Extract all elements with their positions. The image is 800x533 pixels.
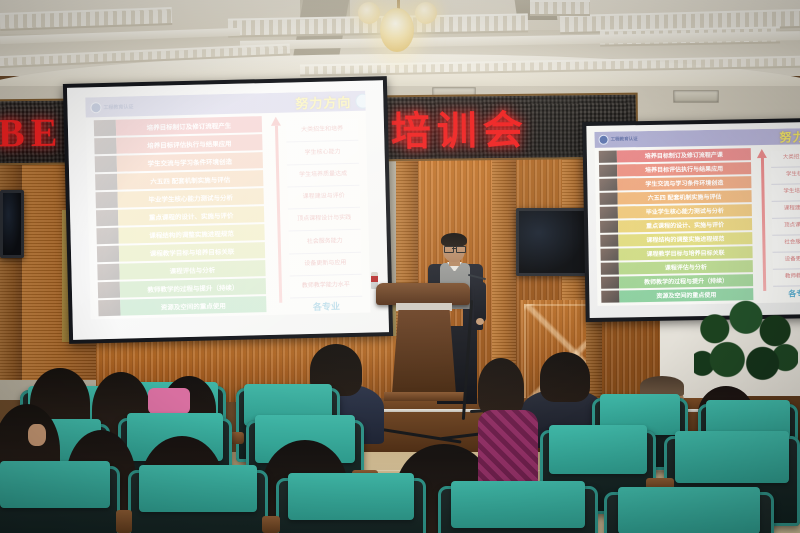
slide-side-label: 课程建设 [772, 201, 800, 219]
slide-row-thumbnail [94, 137, 116, 154]
audience-face-front-1 [28, 424, 46, 446]
seat[interactable] [276, 478, 426, 533]
slide-row-thumbnail [601, 262, 619, 274]
slide-side-label: 设备更新与应用 [289, 252, 362, 276]
seat-armrest [116, 510, 132, 533]
lectern-top[interactable] [376, 283, 470, 305]
left-projection-screen[interactable]: 工程教育认证 努力方向 培养目标制订及修订流程产生培养目标评估执行与结果应用学生… [63, 76, 393, 344]
slide-row-label: 课程结构的调整实施进程规范 [118, 224, 264, 244]
seat[interactable] [0, 466, 120, 533]
lecture-hall-photo: BE (2. 培训会 工程教育认证 努力方向 培养目标制订及修订流程产生培养目标… [0, 0, 800, 533]
slide-rows-left: 培养目标制订及修订流程产生培养目标评估执行与结果应用学生交流与学习条件环境创造六… [94, 115, 267, 317]
slide-row-thumbnail [600, 206, 618, 218]
right-projection-screen[interactable]: 工程教育认证 努力方 培养目标制订及修订流程产课培养目标评估执行与结果应用学生交… [582, 118, 800, 322]
cornice-dentil-midblock [530, 0, 590, 16]
slide-side-label: 社会服务 [772, 235, 800, 253]
slide-row-thumbnail [600, 192, 618, 204]
slide-row-label: 资源及空间的重点使用 [120, 296, 266, 316]
slide-row-thumbnail [599, 164, 617, 176]
slide-footer-right: 各专 [773, 288, 800, 300]
seat[interactable] [604, 492, 774, 533]
logo-text: 工程教育认证 [103, 103, 133, 111]
slide-row-label: 课程结构的调整实施进程规范 [618, 232, 752, 246]
logo-emblem-icon [598, 135, 608, 145]
ceiling-vent-3 [673, 90, 719, 103]
audience-hair-back-2 [540, 352, 590, 402]
slide-row-label: 课程评估与分析 [119, 260, 265, 280]
slide-row-label: 课程评估与分析 [619, 260, 753, 274]
side-monitor[interactable] [0, 190, 24, 258]
slide-row: 六五四 配套机制实施与评估 [599, 189, 751, 205]
slide-row-thumbnail [96, 209, 118, 226]
slide-side-label: 教师教学 [773, 269, 800, 287]
slide-row-label: 学生交流与学习条件环境创造 [617, 176, 751, 190]
slide-row-label: 培养目标评估执行与结果应用 [116, 134, 262, 154]
pendant-light-globe [380, 8, 414, 52]
slide-row-label: 学生交流与学习条件环境创造 [117, 152, 263, 172]
upward-arrow-left [268, 117, 289, 303]
slide-side-label: 设备更新 [773, 252, 800, 270]
slide-side-label: 顶点课程设计与实践 [288, 208, 361, 232]
slide-row: 学生交流与学习条件环境创造 [599, 175, 751, 191]
slide-row-thumbnail [599, 150, 617, 162]
wood-panel-left-edge [0, 150, 22, 380]
slide-header-right: 工程教育认证 努力方 [594, 128, 800, 148]
slide-row: 重点课程的设计、实施与评价 [600, 217, 752, 233]
slide-side-label: 学生核 [771, 167, 800, 185]
slide-row-thumbnail [600, 234, 618, 246]
slide-side-label: 社会服务能力 [289, 230, 362, 254]
slide-row-label: 教师教学的过程与提升（持续） [619, 274, 753, 288]
slide-row-thumbnail [96, 191, 118, 208]
arrow-shaft [274, 126, 281, 303]
arrow-head-icon [271, 117, 281, 126]
slide-side-labels-left: 大类招生和培养学生核心能力学生培养质量达成课程建设与评价顶点课程设计与实践社会服… [286, 119, 362, 299]
slide-side-label: 教师教学能力水平 [290, 275, 363, 299]
presenter-right-arm [474, 282, 486, 322]
slide-row-label: 重点课程的设计、实施与评价 [618, 218, 752, 232]
slide-side-label: 大类招生 [771, 150, 800, 168]
slide-row-label: 毕业学生核心能力测试与分析 [118, 188, 264, 208]
upward-arrow-right [755, 149, 771, 291]
slide-row-label: 重点课程的设计、实施与评价 [118, 206, 264, 226]
wall-monitor[interactable] [516, 208, 588, 276]
slide-row-thumbnail [600, 220, 618, 232]
slide-row-label: 教师教学的过程与提升（持续） [120, 278, 266, 298]
logo-emblem-icon [90, 102, 101, 113]
presenter-glasses-bridge [452, 248, 456, 249]
slide-side-label: 学生培养质量达成 [287, 163, 360, 187]
arrow-shaft [760, 158, 765, 291]
slide-row: 课程结构的调整实施进程规范 [600, 231, 752, 247]
slide-row: 培养目标制订及修订流程产课 [599, 147, 751, 163]
slide-row: 教师教学的过程与提升（持续） [601, 273, 753, 289]
audience-pink-garment [148, 388, 190, 414]
slide-side-label: 学生培养 [771, 184, 800, 202]
presenter-glasses-right-lens [456, 246, 466, 253]
slide-row-label: 毕业学生核心能力测试与分析 [618, 204, 752, 218]
slide-row-label: 六五四 配套机制实施与评估 [617, 190, 751, 204]
led-text-right: 培训会 [390, 98, 529, 157]
slide-row-thumbnail [601, 290, 619, 302]
slide-row-thumbnail [600, 248, 618, 260]
slide-row: 课程教学目标与培养目标关联 [600, 245, 752, 261]
seat[interactable] [128, 470, 268, 533]
slide-row-label: 六五四 配套机制实施与评估 [117, 170, 263, 190]
slide-row-thumbnail [96, 227, 118, 244]
potted-plant [694, 300, 798, 396]
pendant-light-bulb-left [358, 2, 380, 24]
slide-side-label: 学生核心能力 [286, 141, 359, 165]
logo-text: 工程教育认证 [611, 136, 638, 142]
slide-row-thumbnail [599, 178, 617, 190]
slide-row: 课程评估与分析 [601, 259, 753, 275]
seat-armrest [262, 516, 280, 533]
pendant-light-bulb-right [415, 2, 437, 24]
arrow-head-icon [757, 149, 767, 158]
slide-rows-right: 培养目标制订及修订流程产课培养目标评估执行与结果应用学生交流与学习条件环境创造六… [599, 147, 754, 304]
slide-header-left: 工程教育认证 努力方向 [85, 91, 370, 118]
lectern-neck [396, 303, 452, 311]
slide-row: 毕业学生核心能力测试与分析 [600, 203, 752, 219]
slide-row-thumbnail [98, 299, 120, 316]
lectern-body [392, 310, 456, 394]
slide-row-thumbnail [98, 281, 120, 298]
slide-row-thumbnail [94, 119, 116, 136]
slide-row-thumbnail [97, 263, 119, 280]
slide-row-label: 课程教学目标与培养目标关联 [119, 242, 265, 262]
seat[interactable] [438, 486, 598, 533]
slide-row-label: 培养目标评估执行与结果应用 [617, 162, 751, 176]
slide-row-thumbnail [95, 173, 117, 190]
slide-side-labels-right: 大类招生学生核学生培养课程建设顶点课程社会服务设备更新教师教学 [771, 150, 800, 287]
slide-row: 资源及空间的重点使用 [98, 295, 266, 316]
slide-row-label: 培养目标制订及修订流程产生 [116, 116, 262, 136]
slide-title-right: 努力方 [779, 128, 800, 145]
slide-side-label: 课程建设与评价 [287, 186, 360, 210]
slide-row-label: 培养目标制订及修订流程产课 [617, 148, 751, 162]
presenter-hair [441, 233, 467, 247]
slide-logo-left: 工程教育认证 [90, 101, 133, 113]
slide-side-label: 顶点课程 [772, 218, 800, 236]
slide-footer-left: 各专业 [286, 299, 366, 314]
slide-row-label: 课程教学目标与培养目标关联 [618, 246, 752, 260]
slide-row-thumbnail [601, 276, 619, 288]
slide-side-label: 大类招生和培养 [286, 119, 359, 143]
presenter-hand [476, 318, 484, 325]
audience-hair-back-3 [478, 358, 524, 416]
slide-logo-right: 工程教育认证 [598, 134, 637, 145]
slide-title-left: 努力方向 [295, 91, 351, 111]
lectern-base [384, 392, 464, 401]
slide-row: 培养目标评估执行与结果应用 [599, 161, 751, 177]
slide-badge-icon [355, 93, 370, 108]
slide-row-thumbnail [97, 245, 119, 262]
slide-row-thumbnail [95, 155, 117, 172]
audience-patterned-garment [478, 410, 538, 490]
